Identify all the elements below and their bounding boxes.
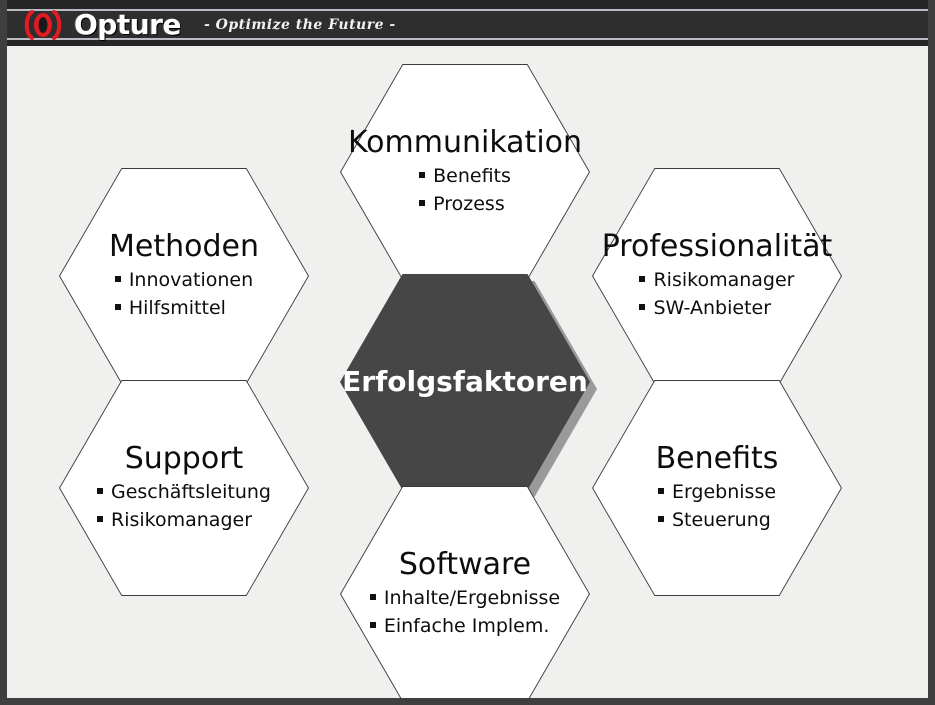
hex-title: Software [399,548,531,581]
list-item-label: Inhalte/Ergebnisse [384,585,560,613]
list-item: Inhalte/Ergebnisse [370,585,560,613]
hex-title: Benefits [656,442,779,475]
hex-content: Software Inhalte/Ergebnisse Einfache Imp… [340,486,590,702]
brand-tagline: - Optimize the Future - [204,10,396,40]
square-bullet-icon [97,516,103,522]
hex-content: Professionalität Risikomanager SW-Anbiet… [592,168,842,384]
list-item: Ergebnisse [658,479,776,507]
list-item-label: SW-Anbieter [653,295,771,323]
header-bar: Opture - Optimize the Future - [7,0,935,46]
square-bullet-icon [639,304,645,310]
square-bullet-icon [370,622,376,628]
list-item: Innovationen [115,267,253,295]
list-item-label: Benefits [433,163,511,191]
list-item-label: Einfache Implem. [384,613,550,641]
hex-node-software[interactable]: Software Inhalte/Ergebnisse Einfache Imp… [340,486,590,702]
list-item-label: Geschäftsleitung [111,479,271,507]
list-item: SW-Anbieter [639,295,794,323]
brand[interactable]: Opture - Optimize the Future - [21,9,396,41]
hex-title: Kommunikation [348,126,582,159]
hex-node-kommunikation[interactable]: Kommunikation Benefits Prozess [340,64,590,280]
hex-item-list: Innovationen Hilfsmittel [115,267,253,322]
list-item: Benefits [419,163,511,191]
list-item-label: Ergebnisse [672,479,776,507]
list-item: Risikomanager [97,507,271,535]
list-item-label: Risikomanager [653,267,794,295]
hex-item-list: Risikomanager SW-Anbieter [639,267,794,322]
square-bullet-icon [370,594,376,600]
opture-circle-logo-icon [21,10,65,40]
square-bullet-icon [115,304,121,310]
hex-content: Kommunikation Benefits Prozess [340,64,590,280]
hex-node-methoden[interactable]: Methoden Innovationen Hilfsmittel [59,168,309,384]
list-item-label: Steuerung [672,507,771,535]
list-item-label: Risikomanager [111,507,252,535]
square-bullet-icon [115,276,121,282]
hex-item-list: Inhalte/Ergebnisse Einfache Implem. [370,585,560,640]
list-item: Prozess [419,191,511,219]
list-item: Geschäftsleitung [97,479,271,507]
hex-content: Methoden Innovationen Hilfsmittel [59,168,309,384]
hex-node-professionalitaet[interactable]: Professionalität Risikomanager SW-Anbiet… [592,168,842,384]
hex-node-benefits[interactable]: Benefits Ergebnisse Steuerung [592,380,842,596]
list-item-label: Innovationen [129,267,253,295]
brand-name: Opture [74,10,181,40]
hex-node-erfolgsfaktoren[interactable]: Erfolgsfaktoren [340,274,590,490]
hex-item-list: Geschäftsleitung Risikomanager [97,479,271,534]
list-item: Risikomanager [639,267,794,295]
hex-title: Erfolgsfaktoren [342,367,588,398]
application-frame: Opture - Optimize the Future - Kommunika… [0,0,935,705]
hex-title: Methoden [109,230,259,263]
square-bullet-icon [419,200,425,206]
square-bullet-icon [658,516,664,522]
hex-content: Erfolgsfaktoren [340,274,590,490]
list-item: Einfache Implem. [370,613,560,641]
hex-item-list: Benefits Prozess [419,163,511,218]
list-item: Hilfsmittel [115,295,253,323]
hex-content: Benefits Ergebnisse Steuerung [592,380,842,596]
hex-node-support[interactable]: Support Geschäftsleitung Risikomanager [59,380,309,596]
square-bullet-icon [658,488,664,494]
square-bullet-icon [419,172,425,178]
square-bullet-icon [639,276,645,282]
square-bullet-icon [97,488,103,494]
hex-title: Support [125,442,244,475]
hex-content: Support Geschäftsleitung Risikomanager [59,380,309,596]
list-item: Steuerung [658,507,776,535]
list-item-label: Hilfsmittel [129,295,226,323]
list-item-label: Prozess [433,191,505,219]
hex-item-list: Ergebnisse Steuerung [658,479,776,534]
honeycomb-diagram: Kommunikation Benefits Prozess Methoden … [7,46,928,698]
hex-title: Professionalität [602,230,833,263]
